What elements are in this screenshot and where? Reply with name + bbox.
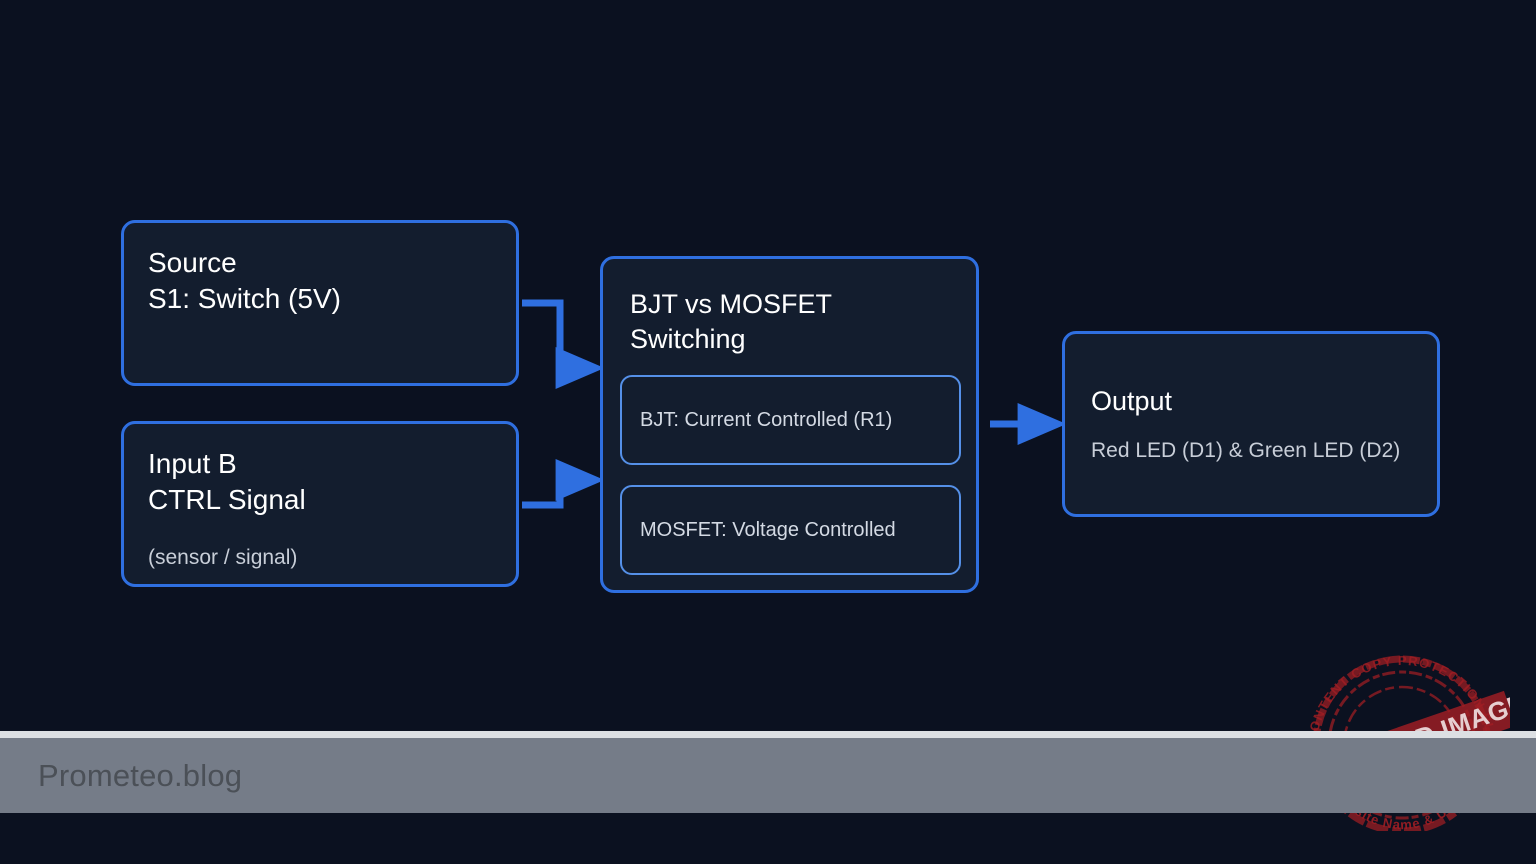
edge-source-to-process (522, 303, 578, 368)
diagram-canvas: Source S1: Switch (5V) Input B CTRL Sign… (0, 0, 1536, 864)
node-output-title: Output (1091, 384, 1411, 419)
sub-node-bjt-label: BJT: Current Controlled (R1) (640, 407, 892, 433)
node-process-title: BJT vs MOSFET Switching (630, 287, 958, 356)
sub-node-bjt[interactable]: BJT: Current Controlled (R1) (620, 375, 961, 465)
node-input-b[interactable]: Input B CTRL Signal (sensor / signal) (121, 421, 519, 587)
sub-node-mosfet[interactable]: MOSFET: Voltage Controlled (620, 485, 961, 575)
node-output-subtitle: Red LED (D1) & Green LED (D2) (1091, 437, 1411, 464)
node-source-title: Source S1: Switch (5V) (148, 245, 492, 317)
node-source[interactable]: Source S1: Switch (5V) (121, 220, 519, 386)
node-output[interactable]: Output Red LED (D1) & Green LED (D2) (1062, 331, 1440, 517)
footer-site-name: Prometeo.blog (38, 758, 242, 794)
edge-inputb-to-process (522, 480, 578, 505)
node-input-b-subtitle: (sensor / signal) (148, 544, 492, 571)
footer-band: Prometeo.blog (0, 731, 1536, 813)
sub-node-mosfet-label: MOSFET: Voltage Controlled (640, 517, 896, 543)
node-input-b-title: Input B CTRL Signal (148, 446, 492, 518)
